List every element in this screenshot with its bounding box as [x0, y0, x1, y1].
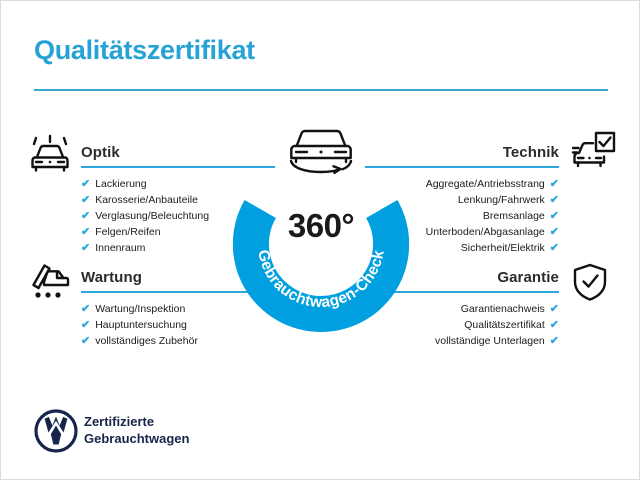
check-icon: ✔	[550, 208, 559, 224]
check-icon: ✔	[550, 224, 559, 240]
vw-brand-line-1: Zertifizierte	[84, 413, 189, 430]
check-icon: ✔	[81, 240, 90, 256]
quality-certificate-page: Qualitätszertifikat Optik ✔Lackierung ✔K…	[0, 0, 640, 480]
list-item-label: vollständige Unterlagen	[435, 333, 545, 349]
list-item-label: Sicherheit/Elektrik	[461, 240, 545, 256]
shiny-car-icon	[27, 132, 73, 174]
list-item-label: Felgen/Reifen	[95, 224, 160, 240]
shield-check-icon	[567, 261, 613, 303]
check-icon: ✔	[550, 176, 559, 192]
list-item-label: Verglasung/Beleuchtung	[95, 208, 209, 224]
badge-degrees: 360°	[233, 207, 409, 245]
list-item-label: Aggregate/Antriebsstrang	[426, 176, 545, 192]
list-item: vollständige Unterlagen✔	[365, 333, 559, 349]
check-icon: ✔	[550, 192, 559, 208]
check-icon: ✔	[81, 208, 90, 224]
list-item: ✔vollständiges Zubehör	[81, 333, 275, 349]
car-rotate-icon	[269, 123, 373, 179]
check-icon: ✔	[550, 317, 559, 333]
list-item-label: Lackierung	[95, 176, 146, 192]
check-icon: ✔	[81, 301, 90, 317]
vw-brand-line-2: Gebrauchtwagen	[84, 430, 189, 447]
check-icon: ✔	[81, 317, 90, 333]
car-checkbox-icon	[571, 130, 617, 172]
vw-logo-icon	[34, 409, 78, 453]
page-title: Qualitätszertifikat	[34, 35, 255, 66]
list-item-label: Karosserie/Anbauteile	[95, 192, 198, 208]
check-icon: ✔	[550, 333, 559, 349]
list-item-label: vollständiges Zubehör	[95, 333, 198, 349]
list-item-label: Bremsanlage	[483, 208, 545, 224]
header-divider	[34, 89, 608, 91]
list-item-label: Wartung/Inspektion	[95, 301, 185, 317]
list-item-label: Garantienachweis	[461, 301, 545, 317]
check-icon: ✔	[81, 176, 90, 192]
check-icon: ✔	[550, 301, 559, 317]
pen-car-service-icon	[27, 259, 73, 301]
list-item-label: Hauptuntersuchung	[95, 317, 187, 333]
list-item-label: Lenkung/Fahrwerk	[458, 192, 545, 208]
check-icon: ✔	[550, 240, 559, 256]
list-item-label: Unterboden/Abgasanlage	[426, 224, 545, 240]
list-item-label: Qualitätszertifikat	[464, 317, 545, 333]
check-icon: ✔	[81, 333, 90, 349]
check-icon: ✔	[81, 192, 90, 208]
vw-brand-text: Zertifizierte Gebrauchtwagen	[84, 413, 189, 447]
list-item-label: Innenraum	[95, 240, 145, 256]
check-icon: ✔	[81, 224, 90, 240]
